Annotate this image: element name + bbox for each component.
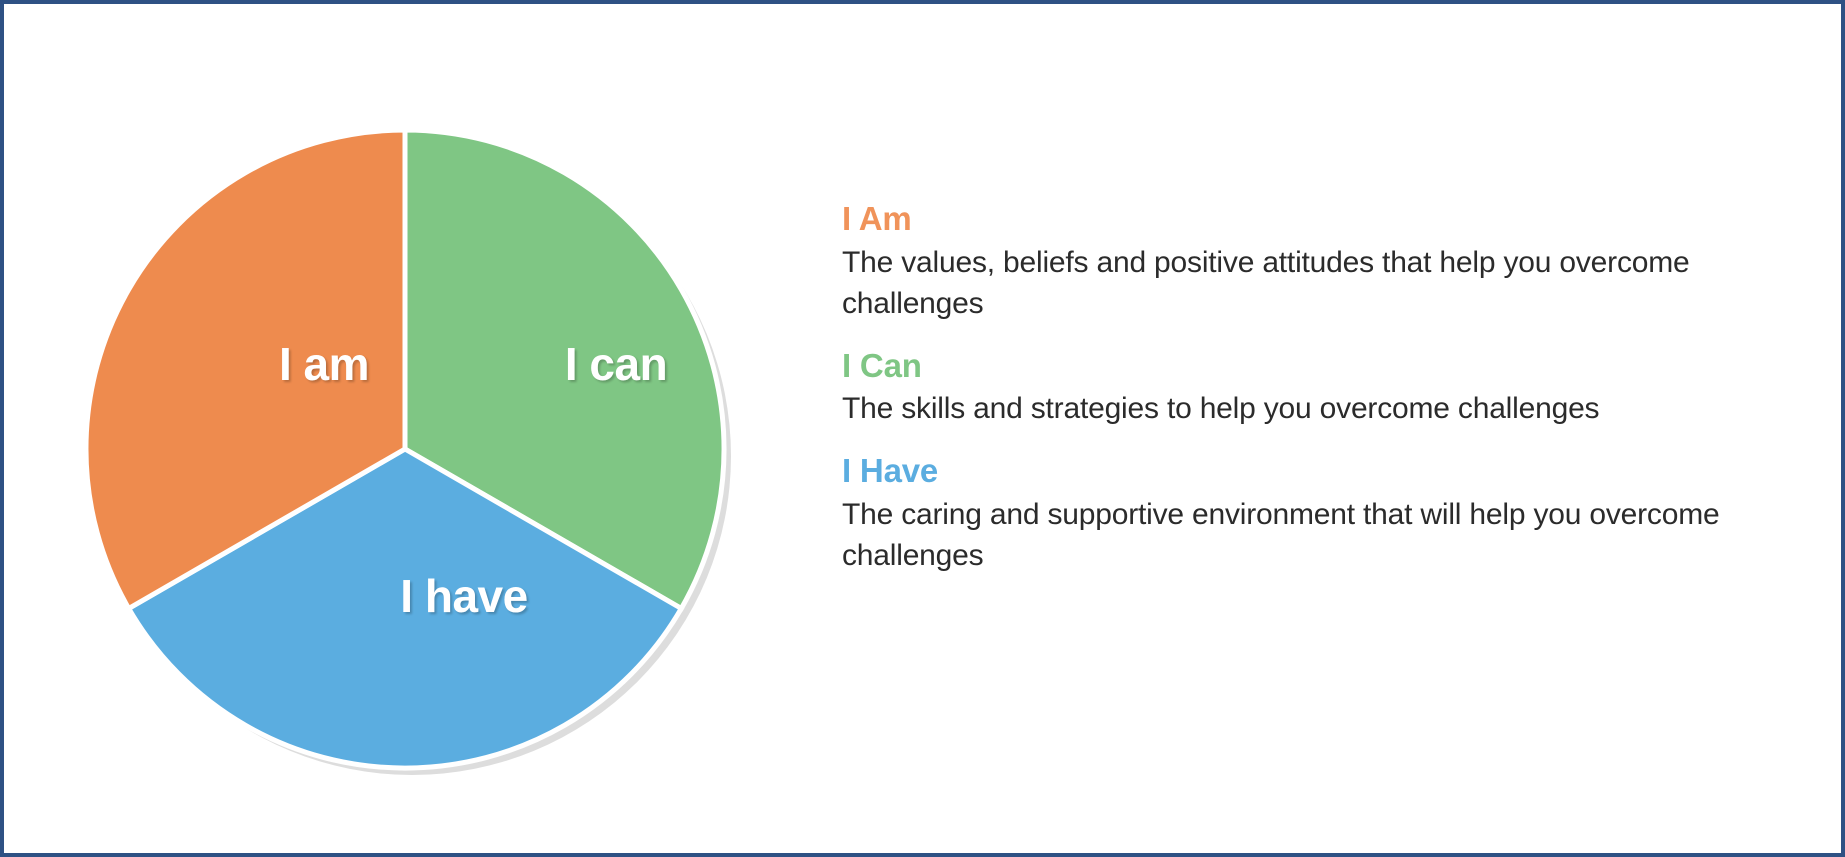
legend-item-i-have: I Have The caring and supportive environ… <box>842 452 1802 577</box>
legend-panel: I Am The values, beliefs and positive at… <box>842 200 1802 577</box>
pie-chart-svg <box>64 104 764 804</box>
legend-body-i-have: The caring and supportive environment th… <box>842 495 1777 577</box>
legend-heading-i-have: I Have <box>842 452 1802 491</box>
legend-heading-i-can: I Can <box>842 347 1802 386</box>
resilience-pie-infographic: I am I can I have I Am The values, belie… <box>0 0 1845 857</box>
pie-chart: I am I can I have <box>64 104 764 804</box>
legend-body-i-can: The skills and strategies to help you ov… <box>842 389 1777 430</box>
legend-item-i-can: I Can The skills and strategies to help … <box>842 347 1802 431</box>
legend-item-i-am: I Am The values, beliefs and positive at… <box>842 200 1802 325</box>
legend-heading-i-am: I Am <box>842 200 1802 239</box>
legend-body-i-am: The values, beliefs and positive attitud… <box>842 243 1777 325</box>
